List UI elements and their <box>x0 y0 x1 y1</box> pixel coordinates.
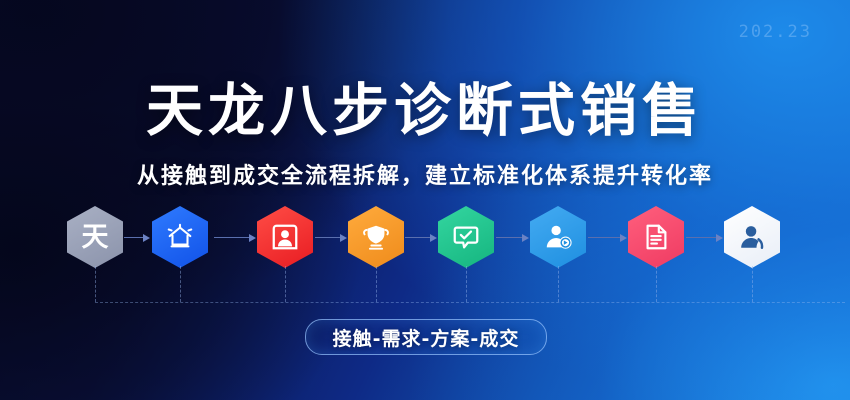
flow-step-2-connector-dash <box>180 266 181 302</box>
chat-check-icon <box>451 222 481 252</box>
user-badge-icon <box>543 222 573 252</box>
flow-arrow-4-icon <box>405 234 437 242</box>
process-flow: 天 <box>0 206 850 302</box>
flow-arrow-7-icon <box>686 234 723 242</box>
contact-portrait-icon <box>270 222 300 252</box>
flow-arrow-5-icon <box>496 234 529 242</box>
flow-step-5-hexagon[interactable] <box>438 206 494 268</box>
flow-step-2-hexagon[interactable] <box>152 206 208 268</box>
flow-step-1-hexagon[interactable]: 天 <box>67 206 123 268</box>
user-solid-icon <box>737 222 767 252</box>
flow-step-3-hexagon[interactable] <box>257 206 313 268</box>
flow-arrow-1-icon <box>124 234 150 242</box>
document-icon <box>641 222 671 252</box>
flow-step-3-connector-dash <box>285 266 286 302</box>
flow-step-5-connector-dash <box>466 266 467 302</box>
flow-step-7-connector-dash <box>656 266 657 302</box>
summary-pill: 接触-需求-方案-成交 <box>305 319 547 355</box>
flow-baseline-dash <box>95 302 845 303</box>
page-subtitle: 从接触到成交全流程拆解，建立标准化体系提升转化率 <box>0 158 850 190</box>
flow-step-6-connector-dash <box>558 266 559 302</box>
flow-step-6-hexagon[interactable] <box>530 206 586 268</box>
trophy-icon <box>361 222 391 252</box>
flow-arrow-6-icon <box>588 234 627 242</box>
house-icon <box>165 222 195 252</box>
flow-step-8-connector-dash <box>752 266 753 302</box>
flow-step-1-connector-dash <box>95 266 96 302</box>
flow-arrow-2-icon <box>214 234 256 242</box>
flow-arrow-3-icon <box>315 234 347 242</box>
promo-banner: 202.23 天龙八步诊断式销售 从接触到成交全流程拆解，建立标准化体系提升转化… <box>0 0 850 400</box>
page-title: 天龙八步诊断式销售 <box>0 83 850 140</box>
flow-step-4-connector-dash <box>376 266 377 302</box>
watermark-text: 202.23 <box>739 22 812 42</box>
flow-step-4-hexagon[interactable] <box>348 206 404 268</box>
cjk-tian-glyph: 天 <box>82 224 109 251</box>
summary-pill-label: 接触-需求-方案-成交 <box>333 324 520 351</box>
flow-step-7-hexagon[interactable] <box>628 206 684 268</box>
flow-step-8-hexagon[interactable] <box>724 206 780 268</box>
